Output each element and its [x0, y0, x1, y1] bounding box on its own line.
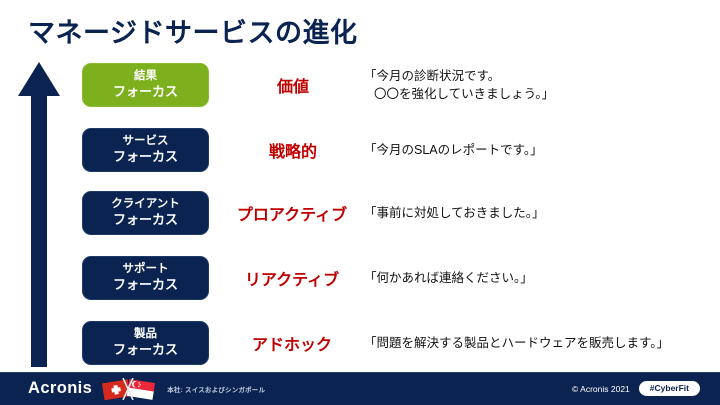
maturity-row: サポート フォーカス リアクティブ 「何かあれば連絡ください。」	[0, 255, 720, 301]
focus-box-line1: 製品	[134, 327, 157, 342]
focus-box-product[interactable]: 製品 フォーカス	[82, 321, 209, 365]
swiss-singapore-flags-icon	[101, 378, 159, 400]
quote-line1: 「何かあれば連絡ください。」	[364, 269, 533, 287]
copyright-text: © Acronis 2021	[572, 384, 630, 394]
footer-divider	[0, 372, 720, 373]
focus-box-line2: フォーカス	[113, 342, 178, 359]
quote-adhoc: 「問題を解決する製品とハードウェアを販売します。」	[364, 320, 669, 366]
maturity-row: クライアント フォーカス プロアクティブ 「事前に対処しておきました。」	[0, 190, 720, 236]
focus-box-line2: フォーカス	[113, 277, 178, 294]
quote-line1: 「今月のSLAのレポートです。」	[364, 141, 543, 159]
stage-label-value: 価値	[228, 62, 358, 108]
quote-line1: 「問題を解決する製品とハードウェアを販売します。」	[364, 334, 669, 352]
quote-strategic: 「今月のSLAのレポートです。」	[364, 127, 543, 173]
headquarters-text: 本社: スイスおよびシンガポール	[167, 384, 265, 394]
focus-box-line2: フォーカス	[113, 84, 178, 101]
quote-line1: 「今月の診断状況です。	[364, 67, 554, 85]
stage-label-adhoc: アドホック	[222, 320, 362, 366]
quote-value: 「今月の診断状況です。 〇〇を強化していきましょう。」	[364, 62, 554, 108]
focus-box-support[interactable]: サポート フォーカス	[82, 256, 209, 300]
focus-box-client[interactable]: クライアント フォーカス	[82, 191, 209, 235]
maturity-row: 製品 フォーカス アドホック 「問題を解決する製品とハードウェアを販売します。」	[0, 320, 720, 366]
stage-label-strategic: 戦略的	[228, 127, 358, 173]
maturity-row: 結果 フォーカス 価値 「今月の診断状況です。 〇〇を強化していきましょう。」	[0, 62, 720, 108]
quote-reactive: 「何かあれば連絡ください。」	[364, 255, 533, 301]
focus-box-line1: サービス	[123, 134, 169, 149]
quote-proactive: 「事前に対処しておきました。」	[364, 190, 545, 236]
focus-box-line1: サポート	[123, 262, 169, 277]
acronis-logo: Acronis	[28, 379, 92, 398]
maturity-row: サービス フォーカス 戦略的 「今月のSLAのレポートです。」	[0, 127, 720, 173]
stage-label-proactive: プロアクティブ	[222, 190, 362, 236]
focus-box-service[interactable]: サービス フォーカス	[82, 128, 209, 172]
quote-line2: 〇〇を強化していきましょう。」	[364, 85, 554, 103]
quote-line1: 「事前に対処しておきました。」	[364, 204, 545, 222]
focus-box-line1: 結果	[134, 69, 157, 84]
stage-label-reactive: リアクティブ	[222, 255, 362, 301]
slide-footer: Acronis	[0, 372, 720, 405]
slide-canvas: マネージドサービスの進化 結果 フォーカス 価値 「今月の診断状況です。 〇〇を…	[0, 0, 720, 405]
focus-box-line2: フォーカス	[113, 212, 178, 229]
cyberfit-badge: #CyberFit	[639, 381, 700, 396]
focus-box-result[interactable]: 結果 フォーカス	[82, 63, 209, 107]
focus-box-line2: フォーカス	[113, 149, 178, 166]
focus-box-line1: クライアント	[111, 197, 180, 212]
page-title: マネージドサービスの進化	[28, 11, 357, 50]
footer-right-group: © Acronis 2021 #CyberFit	[572, 381, 700, 396]
